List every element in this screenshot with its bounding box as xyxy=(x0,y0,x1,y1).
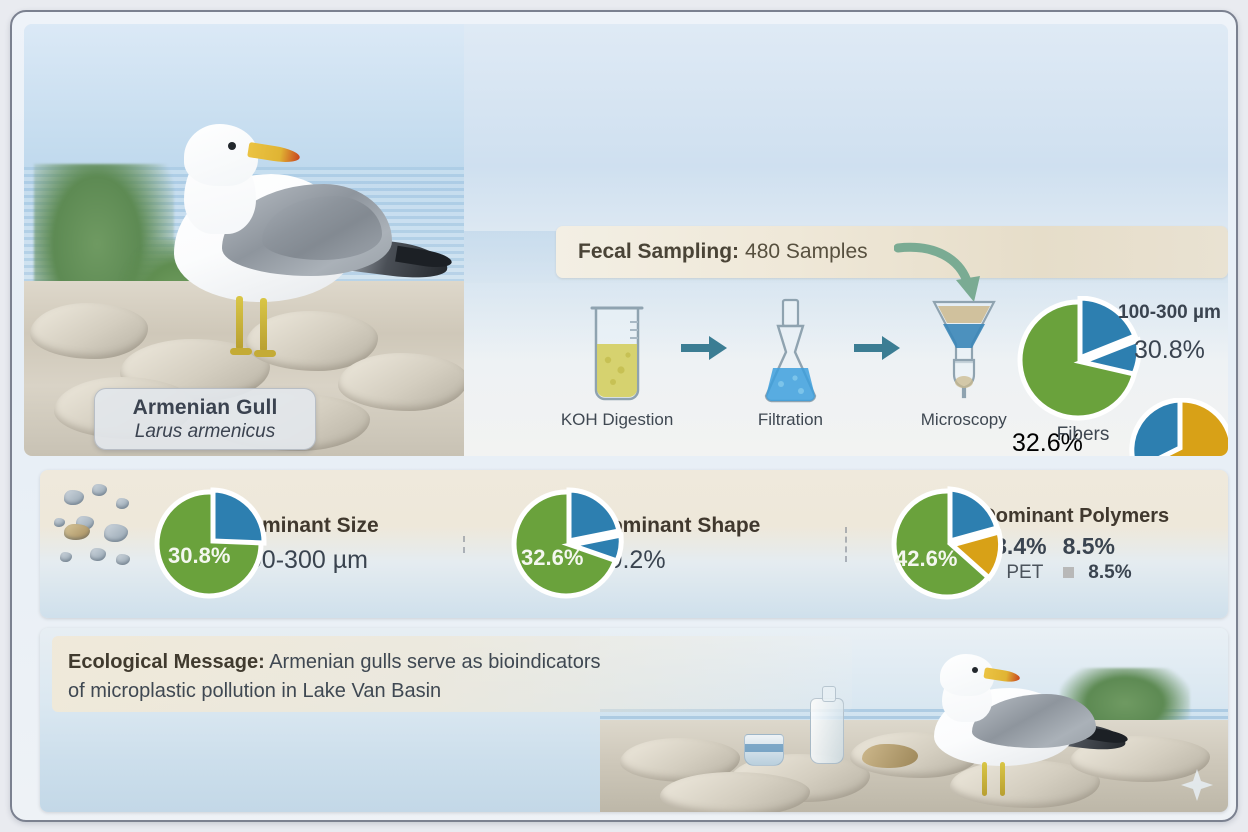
gull-leg xyxy=(260,298,267,352)
legend-swatch-other xyxy=(1063,567,1074,578)
message-bold-label: Ecological Message: xyxy=(68,651,265,673)
chart-shape-pie-top: 29.2% xyxy=(1126,398,1228,456)
stat-dominant-size: 30.8% Dominant Size 100-300 µm xyxy=(40,514,463,575)
message-rest: Armenian gulls serve as bioindicators xyxy=(265,651,601,673)
process-step-koh: KOH Digestion xyxy=(556,292,678,430)
polymers-legend-row: PET 8.5% xyxy=(981,562,1169,584)
process-flow: KOH Digestion F xyxy=(556,292,1076,452)
sparkle-icon xyxy=(1180,768,1214,802)
plastic-cup-icon xyxy=(744,734,784,766)
size-pct-label: 30.8% xyxy=(1134,336,1228,365)
pie-svg xyxy=(1126,398,1228,456)
legend-label-pet: PET xyxy=(1006,562,1043,584)
panel-ecological-message: Ecological Message: Armenian gulls serve… xyxy=(40,628,1228,812)
infographic-poster: Armenian Gull Larus armenicus Fecal Samp… xyxy=(10,10,1238,822)
armenian-gull-illustration xyxy=(900,650,1120,790)
process-step-filtration: Filtration xyxy=(729,292,851,430)
flask-icon xyxy=(753,292,827,404)
gull-foot xyxy=(254,350,276,357)
pie-svg-polymer: 42.6% xyxy=(889,484,1009,604)
gull-leg xyxy=(982,762,987,796)
flow-arrow-icon xyxy=(678,292,729,404)
process-step-label: Microscopy xyxy=(921,410,1007,430)
gull-leg xyxy=(236,296,243,350)
size-callout: 100-300 µm 30.8% xyxy=(1118,302,1228,365)
armenian-gull-illustration xyxy=(144,112,434,372)
message-line-2: of microplastic pollution in Lake Van Ba… xyxy=(68,677,836,706)
message-line-1: Ecological Message: Armenian gulls serve… xyxy=(68,648,836,677)
stat-divider xyxy=(845,527,847,562)
pie-value-polymer: 42.6% xyxy=(895,546,957,571)
panel-key-findings: 30.8% Dominant Size 100-300 µm 32.6% xyxy=(40,470,1228,618)
sampling-header-strip: Fecal Sampling: 480 Samples xyxy=(556,226,1228,278)
fibers-caption: Fibers xyxy=(1028,424,1138,446)
polymers-label: Dominant Polymers xyxy=(981,505,1169,528)
species-label: Armenian Gull Larus armenicus xyxy=(94,388,316,450)
gull-eye xyxy=(972,667,978,673)
stats-row: 30.8% Dominant Size 100-300 µm 32.6% xyxy=(40,470,1228,618)
sampling-label: Fecal Sampling: xyxy=(578,240,739,264)
gull-foot xyxy=(230,348,252,355)
pie-svg-size: 30.8% xyxy=(152,485,270,603)
legend-pct-other: 8.5% xyxy=(1088,562,1131,584)
funnel-icon xyxy=(924,292,1004,404)
species-scientific-name: Larus armenicus xyxy=(135,421,275,443)
species-common-name: Armenian Gull xyxy=(133,396,278,420)
flow-arrow-icon xyxy=(851,292,902,404)
panel-methodology: Armenian Gull Larus armenicus Fecal Samp… xyxy=(24,24,1228,456)
process-step-label: Filtration xyxy=(758,410,823,430)
size-range-label: 100-300 µm xyxy=(1118,302,1228,324)
pie-value-size: 30.8% xyxy=(168,543,230,568)
polymers-values-row: 28.4% 8.5% xyxy=(981,533,1169,560)
gull-eye xyxy=(228,142,236,150)
ecological-message: Ecological Message: Armenian gulls serve… xyxy=(52,636,852,712)
process-step-label: KOH Digestion xyxy=(561,410,673,430)
stat-divider xyxy=(463,536,465,553)
stat-dominant-shape: 32.6% Dominant Shape 29.2% xyxy=(463,514,846,575)
stat-dominant-polymers: 42.6% Dominant Polymers 28.4% 8.5% PET 8… xyxy=(845,505,1228,584)
polymer-secondary-pct: 8.5% xyxy=(1063,533,1115,560)
process-step-microscopy: Microscopy xyxy=(903,292,1025,430)
gull-leg xyxy=(1000,762,1005,796)
pie-value-shape: 32.6% xyxy=(521,545,583,570)
pie-svg-shape: 32.6% xyxy=(509,485,627,603)
beaker-icon xyxy=(580,292,654,404)
sampling-value: 480 Samples xyxy=(745,240,868,264)
